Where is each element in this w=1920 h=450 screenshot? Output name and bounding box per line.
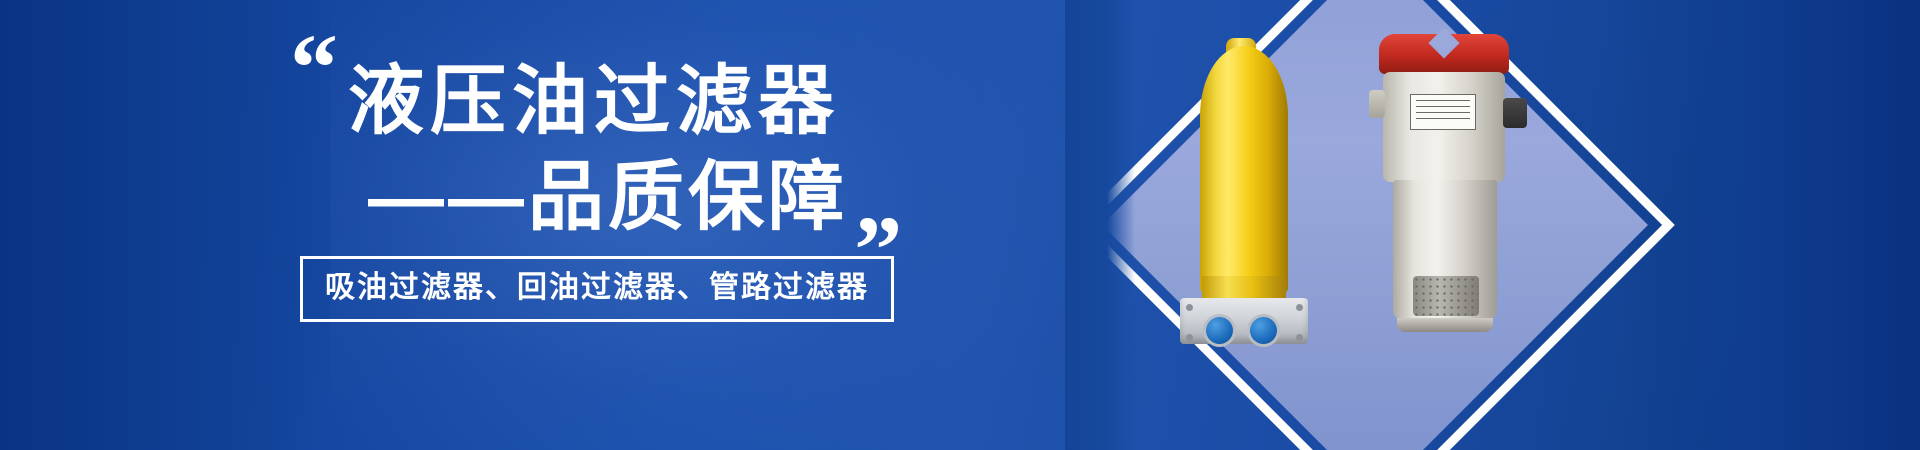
- background-left-shade: [0, 0, 320, 450]
- product-b-side-lug-left: [1369, 90, 1385, 118]
- promo-banner: “ 液压油过滤器 ——品质保障 „ 吸油过滤器、回油过滤器、管路过滤器: [0, 0, 1920, 450]
- product-a-bolt: [1186, 304, 1193, 311]
- product-a-base-plate: [1180, 298, 1308, 344]
- product-a-body: [1200, 46, 1288, 294]
- quote-open-mark: “: [290, 38, 338, 98]
- product-a-bolt: [1296, 304, 1303, 311]
- product-b-label: [1410, 94, 1476, 130]
- headline-line-2: ——品质保障: [348, 156, 848, 240]
- product-a-port-left: [1206, 317, 1233, 344]
- product-image-grey-return-filter: [1355, 28, 1555, 368]
- headline-line-1: 液压油过滤器: [348, 60, 840, 144]
- product-b-foot: [1397, 318, 1493, 332]
- quote-close-mark: „: [855, 170, 903, 230]
- diamond-left-mask: [1065, 0, 1135, 450]
- product-a-port-right: [1250, 317, 1277, 344]
- product-a-bolt: [1296, 334, 1303, 341]
- product-b-side-port: [1503, 98, 1527, 128]
- product-image-yellow-suction-filter: [1178, 28, 1328, 358]
- product-a-bolt: [1186, 334, 1193, 341]
- product-b-mesh-screen: [1413, 276, 1479, 316]
- subline-box: 吸油过滤器、回油过滤器、管路过滤器: [300, 256, 894, 322]
- subline-text: 吸油过滤器、回油过滤器、管路过滤器: [325, 271, 869, 305]
